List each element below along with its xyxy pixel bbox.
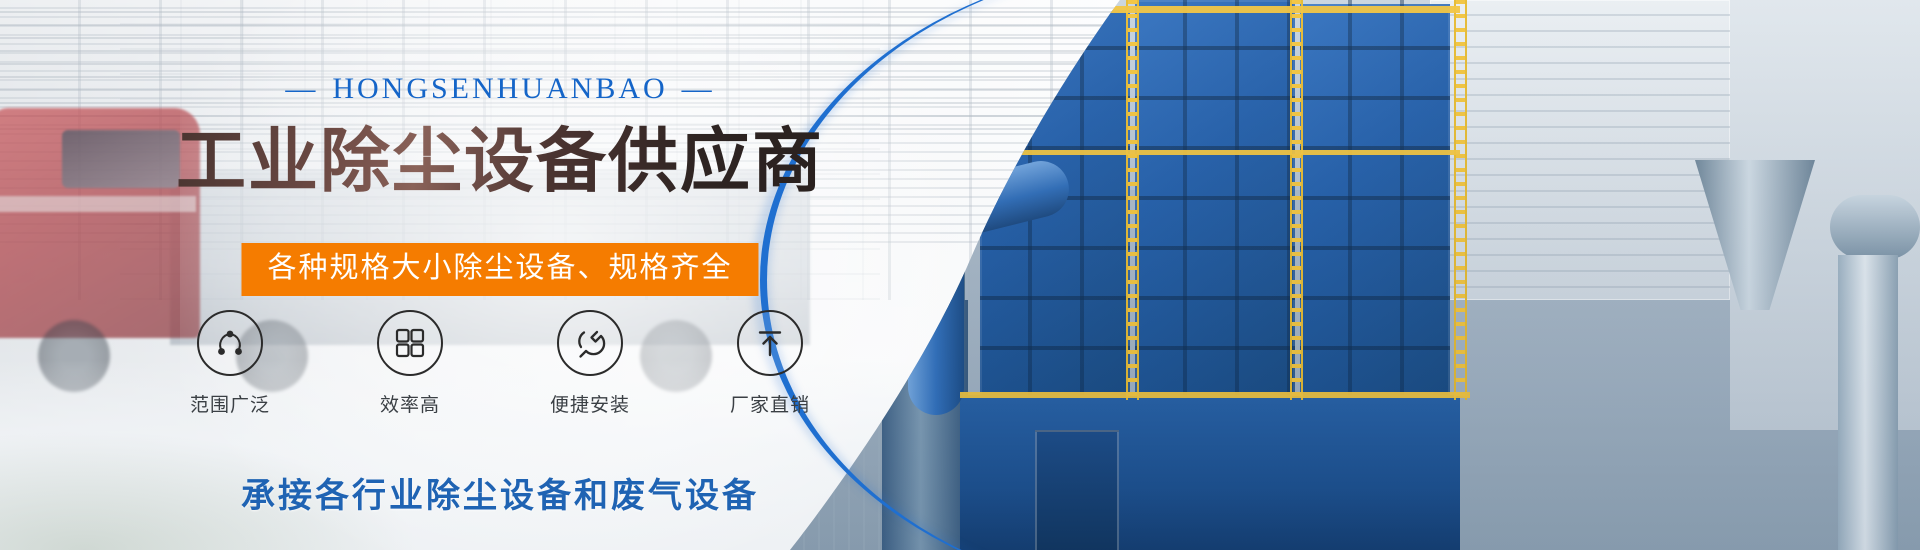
page-title: 工业除尘设备供应商 xyxy=(0,105,1000,206)
feature-label: 范围广泛 xyxy=(174,390,286,417)
feature-label: 厂家直销 xyxy=(714,390,826,417)
network-nodes-icon xyxy=(197,310,263,376)
feature-list: 范围广泛 效率高 xyxy=(0,310,1000,417)
feature-item-coverage[interactable]: 范围广泛 xyxy=(174,310,286,417)
hero-content: —HONGSENHUANBAO— 工业除尘设备供应商 各种规格大小除尘设备、规格… xyxy=(0,0,1000,550)
wrench-circle-icon xyxy=(557,310,623,376)
grid-squares-icon xyxy=(377,310,443,376)
eyebrow-dash-right: — xyxy=(668,72,729,106)
feature-item-direct-sales[interactable]: 厂家直销 xyxy=(714,310,826,417)
brand-eyebrow: —HONGSENHUANBAO— xyxy=(0,72,1000,106)
eyebrow-text: HONGSENHUANBAO xyxy=(332,72,667,105)
feature-item-installation[interactable]: 便捷安装 xyxy=(534,310,646,417)
subtitle-ribbon: 各种规格大小除尘设备、规格齐全 xyxy=(241,243,758,296)
feature-label: 效率高 xyxy=(354,390,466,417)
upload-arrow-icon xyxy=(737,310,803,376)
feature-item-efficiency[interactable]: 效率高 xyxy=(354,310,466,417)
feature-label: 便捷安装 xyxy=(534,390,646,417)
hero-tagline: 承接各行业除尘设备和废气设备 xyxy=(0,468,1000,517)
hero-banner: —HONGSENHUANBAO— 工业除尘设备供应商 各种规格大小除尘设备、规格… xyxy=(0,0,1920,550)
eyebrow-dash-left: — xyxy=(271,72,332,106)
